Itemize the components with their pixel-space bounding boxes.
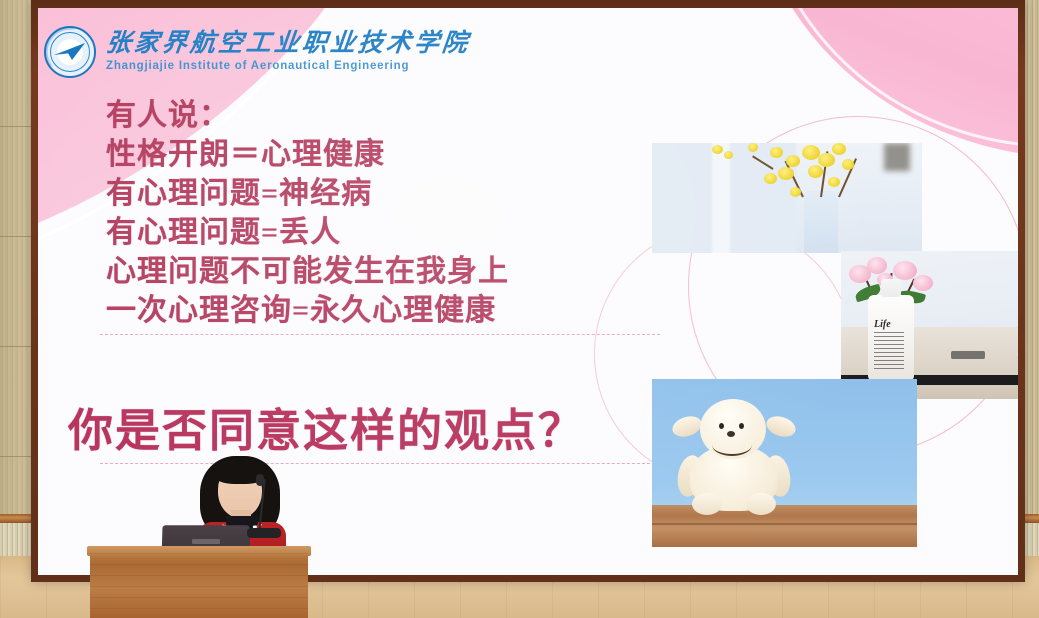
body-line-1: 有人说：: [106, 96, 509, 135]
shelf-edge-line: [652, 523, 917, 525]
sheep-eye-right: [739, 423, 744, 429]
sheep-ear-left: [670, 413, 704, 440]
sheep-foot-right: [746, 493, 776, 515]
projection-screen-frame: 张家界航空工业职业技术学院 Zhangjiajie Institute of A…: [31, 0, 1025, 582]
logo-wordmark: 张家界航空工业职业技术学院 Zhangjiajie Institute of A…: [106, 31, 470, 73]
photo-life-bottle: Life: [841, 251, 1018, 399]
body-line-2: 性格开朗＝心理健康: [106, 135, 509, 174]
yellow-bloom: [842, 159, 854, 170]
bottle-label-lines: [874, 332, 904, 372]
sheep-foot-left: [692, 493, 722, 515]
dashed-divider-bottom: [100, 463, 660, 464]
life-bottle: Life: [868, 295, 914, 381]
microphone-base: [247, 528, 281, 538]
yellow-bloom: [786, 155, 800, 167]
dark-object: [884, 143, 910, 171]
logo-english-name: Zhangjiajie Institute of Aeronautical En…: [106, 61, 470, 73]
sheep-ear-right: [764, 413, 798, 440]
paper-plane-icon: [53, 40, 87, 64]
presentation-slide: 张家界航空工业职业技术学院 Zhangjiajie Institute of A…: [38, 8, 1018, 575]
wall-seam: [0, 126, 34, 127]
microphone-head: [256, 474, 264, 486]
yellow-bloom: [770, 147, 783, 158]
yellow-bloom: [832, 143, 846, 155]
dashed-divider-top: [100, 334, 660, 335]
wall-seam: [0, 346, 34, 347]
body-line-6: 一次心理咨询=永久心理健康: [106, 291, 509, 330]
sheep-eye-left: [719, 423, 724, 429]
institution-logo: 张家界航空工业职业技术学院 Zhangjiajie Institute of A…: [44, 26, 470, 78]
sheep-plush-toy: [676, 399, 792, 511]
yellow-bloom: [818, 153, 835, 167]
pink-blossom: [893, 261, 917, 280]
photo-plush-sheep: [652, 379, 917, 547]
bottle-label-text: Life: [874, 319, 891, 330]
phone-on-desk: [951, 351, 985, 359]
yellow-bloom: [808, 165, 823, 178]
podium-wood-grain: [90, 553, 308, 618]
yellow-bloom: [724, 151, 733, 159]
wall-seam: [0, 456, 34, 457]
body-line-3: 有心理问题=神经病: [106, 174, 509, 213]
glass-vase: [804, 191, 838, 253]
yellow-bloom: [712, 145, 723, 154]
photo-yellow-forsythia: [652, 143, 922, 253]
yellow-bloom: [790, 187, 801, 197]
yellow-bloom: [764, 173, 777, 184]
pink-blossom: [867, 257, 887, 274]
wooden-shelf: [652, 505, 917, 547]
slide-headline: 你是否同意这样的观点？: [68, 394, 585, 459]
yellow-bloom: [828, 177, 840, 187]
pink-blossom: [913, 275, 933, 291]
laptop-lid-logo: [192, 539, 220, 544]
yellow-bloom: [778, 167, 794, 180]
yellow-bloom: [748, 143, 758, 152]
wall-seam: [0, 236, 34, 237]
sheep-smile: [712, 434, 752, 456]
slide-body-text: 有人说： 性格开朗＝心理健康 有心理问题=神经病 有心理问题=丢人 心理问题不可…: [106, 96, 509, 330]
projection-screen: 张家界航空工业职业技术学院 Zhangjiajie Institute of A…: [38, 8, 1018, 575]
aeronautical-emblem-icon: [44, 26, 96, 78]
window-blur: [652, 143, 796, 253]
wooden-podium: [90, 553, 308, 618]
body-line-4: 有心理问题=丢人: [106, 213, 509, 252]
logo-chinese-name: 张家界航空工业职业技术学院: [105, 31, 472, 56]
body-line-5: 心理问题不可能发生在我身上: [106, 252, 509, 291]
